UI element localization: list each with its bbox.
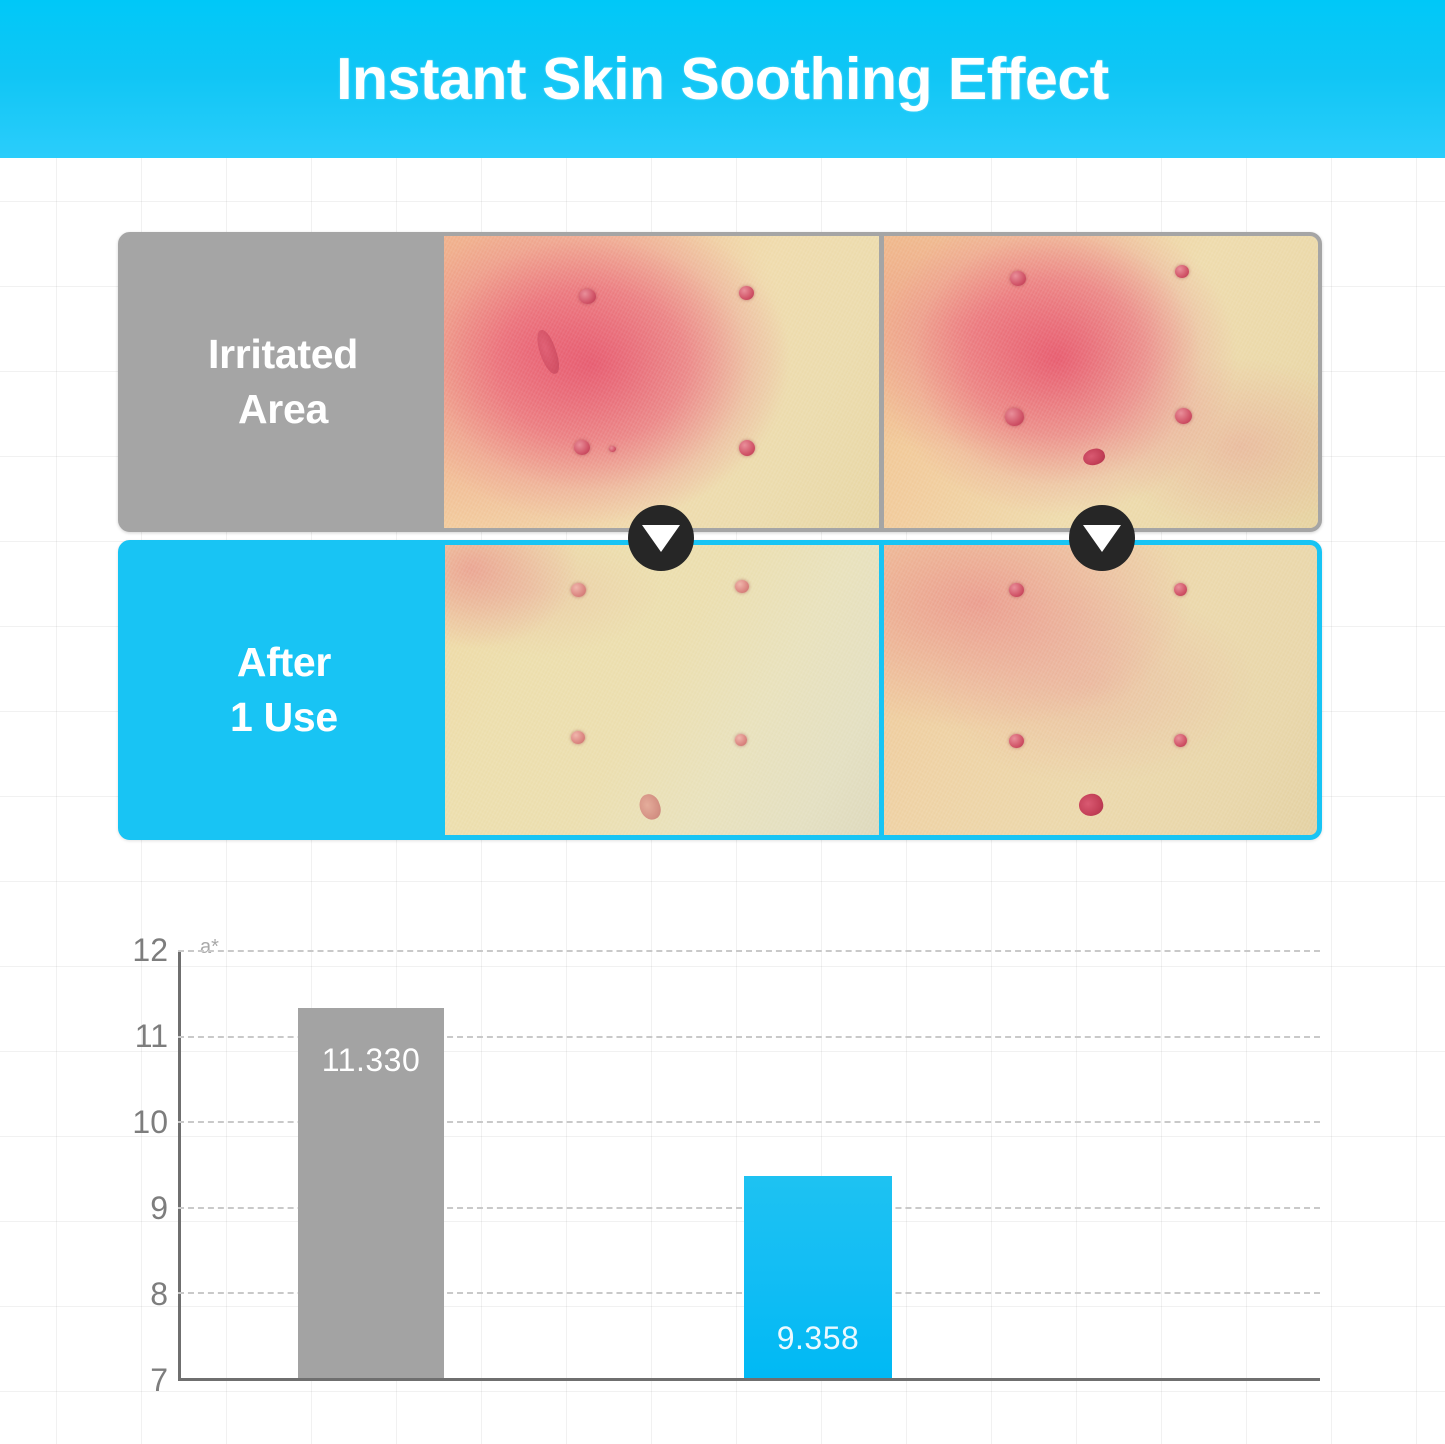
y-tick-12: 12 <box>132 934 168 966</box>
page-title: Instant Skin Soothing Effect <box>336 50 1109 109</box>
comparison-label-after-line2: 1 Use <box>230 690 338 745</box>
header-band: Instant Skin Soothing Effect <box>0 0 1445 158</box>
comparison-row-after: After 1 Use <box>118 540 1322 840</box>
photo-after-right <box>884 545 1318 835</box>
bar-value-irritated-area: 11.330 <box>322 1044 421 1076</box>
before-after-comparison: Irritated Area <box>118 232 1322 842</box>
bar-value-after-1-use: 9.358 <box>777 1322 860 1354</box>
skin-bump <box>1010 271 1026 286</box>
skin-texture-layer <box>444 236 879 528</box>
skin-bump <box>1009 583 1024 597</box>
comparison-label-before-line2: Area <box>238 382 328 437</box>
down-triangle-icon <box>642 525 680 552</box>
comparison-label-after-line1: After <box>237 635 331 690</box>
y-tick-10: 10 <box>132 1106 168 1138</box>
skin-texture-layer <box>884 236 1319 528</box>
comparison-label-before: Irritated Area <box>122 236 444 528</box>
transition-badge-right <box>1069 505 1135 571</box>
skin-texture-layer <box>884 545 1318 835</box>
down-triangle-icon <box>1083 525 1121 552</box>
photo-before-left <box>444 236 879 528</box>
skin-bump <box>735 734 747 746</box>
y-tick-9: 9 <box>150 1192 168 1224</box>
skin-bump <box>571 731 585 744</box>
skin-bump <box>571 583 586 597</box>
y-tick-7: 7 <box>150 1364 168 1396</box>
transition-badge-left <box>628 505 694 571</box>
skin-bump <box>739 286 754 300</box>
photo-after-left <box>445 545 879 835</box>
bar-chart: 12 11 10 9 8 7 a* 11.330 9.358 <box>0 900 1445 1444</box>
x-axis-line <box>178 1378 1320 1381</box>
y-tick-11: 11 <box>135 1020 168 1052</box>
comparison-label-before-line1: Irritated <box>208 327 358 382</box>
comparison-row-before: Irritated Area <box>118 232 1322 532</box>
comparison-label-after: After 1 Use <box>123 545 445 835</box>
chart-plot-area: 11.330 9.358 <box>178 950 1320 1378</box>
gridline-12 <box>178 950 1320 952</box>
skin-bump <box>579 289 596 304</box>
skin-texture-layer <box>445 545 879 835</box>
skin-bump <box>1174 734 1187 747</box>
bar-after-1-use: 9.358 <box>744 1176 892 1378</box>
skin-bump <box>1175 265 1189 278</box>
bar-irritated-area: 11.330 <box>298 1008 444 1379</box>
skin-bump <box>1175 408 1192 424</box>
infographic-page: Instant Skin Soothing Effect Irritated A… <box>0 0 1445 1444</box>
y-axis-tick-labels: 12 11 10 9 8 7 <box>122 900 168 1444</box>
y-tick-8: 8 <box>150 1278 168 1310</box>
skin-bump <box>1174 583 1187 596</box>
skin-bump <box>1009 734 1024 748</box>
photo-before-right <box>884 236 1319 528</box>
